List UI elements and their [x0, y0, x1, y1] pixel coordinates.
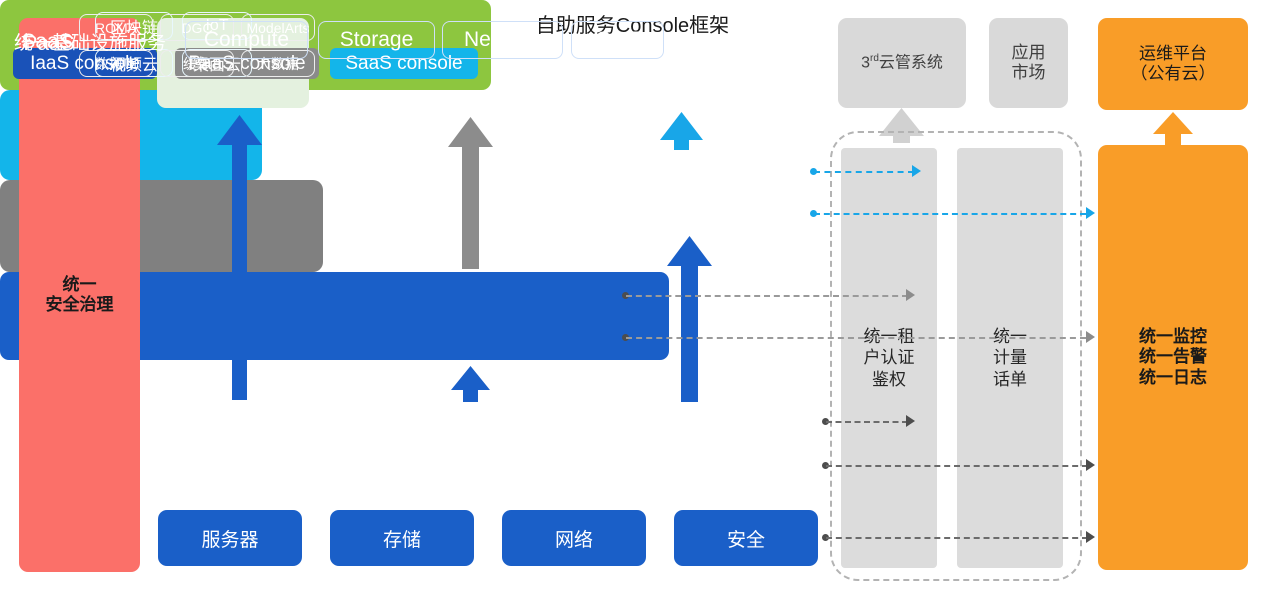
- infra-chip-cce[interactable]: CCE: [571, 21, 664, 59]
- ops-platform-label: 运维平台 （公有云）: [1131, 44, 1216, 85]
- connector-arrowhead: [906, 289, 915, 301]
- shared-service-auth-label: 统一租 户认证 鉴权: [864, 326, 915, 390]
- shared-service-metering: 统一 计量 话单: [957, 148, 1063, 568]
- arrow-saas-to-console: [660, 112, 703, 150]
- shared-service-metering-label: 统一 计量 话单: [993, 326, 1027, 390]
- arrow-infra-to-paas: [451, 366, 490, 402]
- infra-chip-storage[interactable]: Storage: [318, 21, 435, 59]
- arrow-ops-pillar-to-ops-platform: [1153, 112, 1193, 146]
- third-party-cloud-management-label: 3rd云管系统: [861, 53, 943, 73]
- unified-security-governance-pillar[interactable]: 统一 安全治理: [19, 18, 140, 572]
- ops-pillar-label: 统一监控 统一告警 统一日志: [1139, 327, 1207, 388]
- unified-security-governance-label: 统一 安全治理: [46, 275, 114, 316]
- infra-chip-compute[interactable]: Compute: [185, 21, 308, 59]
- ops-pillar-box[interactable]: 统一监控 统一告警 统一日志: [1098, 145, 1248, 570]
- connector-infra-auth: [826, 421, 908, 423]
- connector-saas-auth-cyan: [814, 171, 914, 173]
- hardware-server-box[interactable]: 服务器: [158, 510, 302, 566]
- hardware-security-box[interactable]: 安全: [674, 510, 818, 566]
- connector-arrowhead: [906, 415, 915, 427]
- arrow-infra-to-api-gateway: [217, 115, 262, 400]
- architecture-diagram: 统一租 户认证 鉴权 统一 计量 话单 统一 安全治理 API网关 自助服务Co…: [0, 0, 1265, 605]
- connector-saas-ops-cyan: [814, 213, 1086, 215]
- app-market-label: 应用 市场: [1012, 43, 1046, 84]
- hardware-storage-box[interactable]: 存储: [330, 510, 474, 566]
- connector-hardware-ops: [826, 537, 1088, 539]
- app-market-box[interactable]: 应用 市场: [989, 18, 1068, 108]
- connector-arrowhead: [1086, 331, 1095, 343]
- hardware-network-box[interactable]: 网络: [502, 510, 646, 566]
- connector-paas-ops: [626, 337, 1086, 339]
- unified-infrastructure-label: 统一基础设施服务: [14, 28, 166, 55]
- infra-chip-network[interactable]: Network: [442, 21, 563, 59]
- connector-arrowhead: [912, 165, 921, 177]
- connector-arrowhead: [1086, 459, 1095, 471]
- third-party-cloud-management-box[interactable]: 3rd云管系统: [838, 18, 966, 108]
- ops-platform-box[interactable]: 运维平台 （公有云）: [1098, 18, 1248, 110]
- arrow-paas-to-console: [448, 117, 493, 269]
- connector-arrowhead: [1086, 531, 1095, 543]
- connector-infra-ops: [826, 465, 1088, 467]
- shared-service-auth: 统一租 户认证 鉴权: [841, 148, 937, 568]
- arrow-infra-to-saas: [667, 236, 712, 402]
- connector-paas-auth: [626, 295, 908, 297]
- connector-arrowhead: [1086, 207, 1095, 219]
